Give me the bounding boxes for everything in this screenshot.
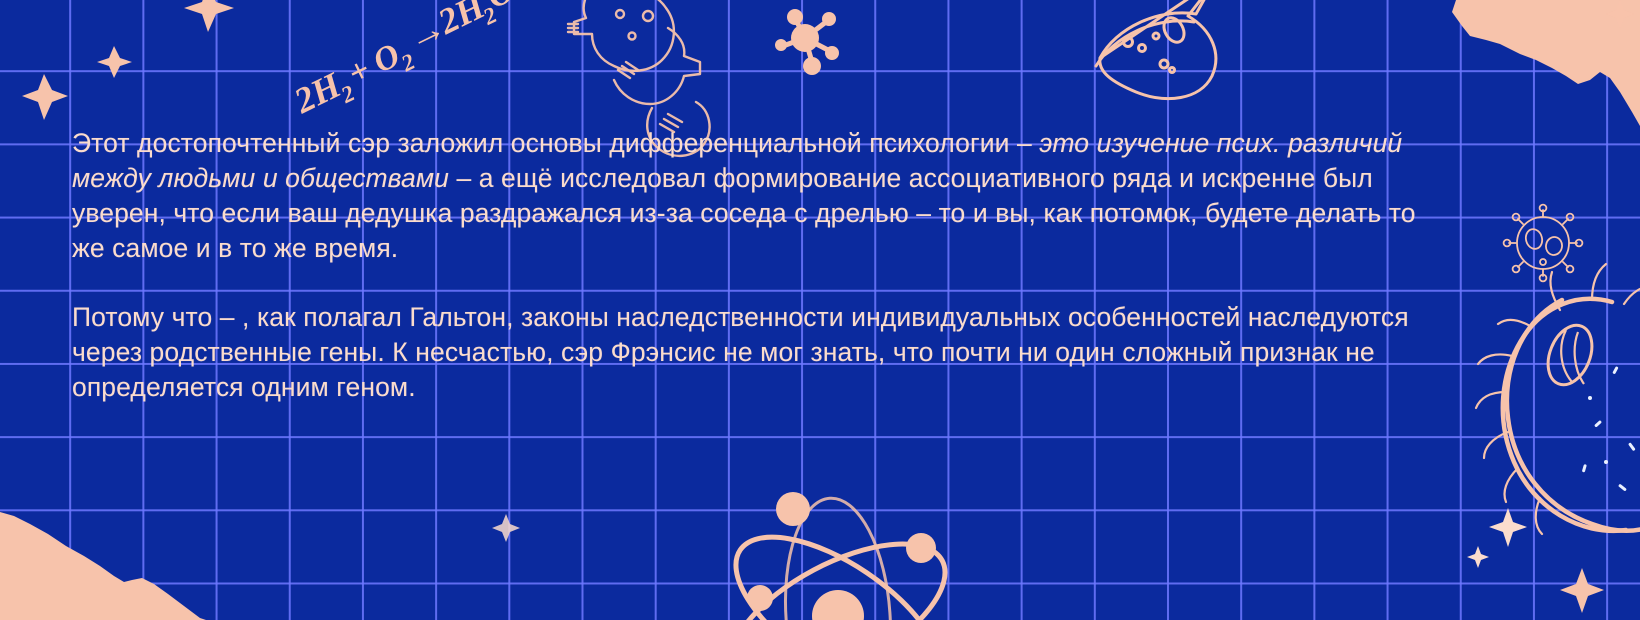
paragraph-1-run-1: Этот достопочтенный сэр заложил основы д… — [72, 128, 1039, 158]
text-content: Этот достопочтенный сэр заложил основы д… — [72, 126, 1432, 405]
virus-icon — [1504, 205, 1583, 282]
erlenmeyer-flask-icon — [1096, 0, 1238, 99]
torn-paper-corner-icon — [1452, 0, 1640, 126]
star-icon — [97, 46, 132, 78]
paragraph-1: Этот достопочтенный сэр заложил основы д… — [72, 126, 1432, 266]
atom-icon — [709, 492, 966, 620]
sparkle-icon — [1467, 546, 1489, 568]
formula-plus-o: + O — [342, 37, 405, 93]
chemical-equation-icon: 2H 2 + O 2 → 2H 2 O — [268, 0, 518, 116]
sparkle-icon — [1489, 508, 1527, 547]
sparkle-icon — [1606, 0, 1634, 28]
molecule-icon — [775, 9, 839, 75]
torn-paper-corner-icon — [0, 512, 206, 620]
sparkle-icon — [1560, 568, 1604, 613]
star-icon — [22, 74, 68, 120]
star-icon — [184, 0, 234, 32]
bacteria-icon — [1476, 264, 1640, 534]
slide-canvas: 2H 2 + O 2 → 2H 2 O Этот достопочтенный … — [0, 0, 1640, 620]
star-icon — [492, 514, 520, 542]
paragraph-2: Потому что – , как полагал Гальтон, зако… — [72, 300, 1432, 405]
